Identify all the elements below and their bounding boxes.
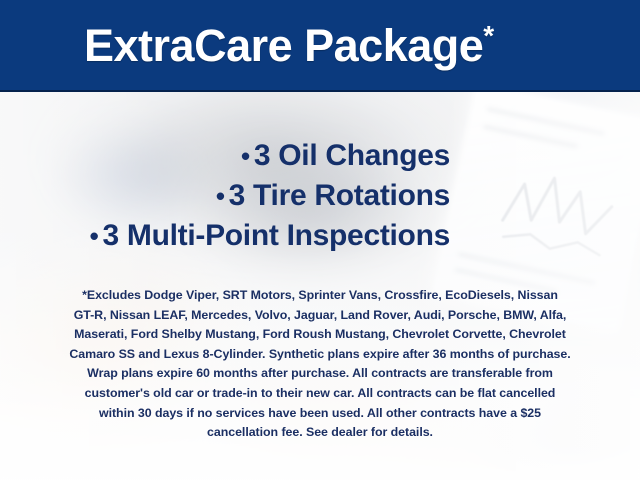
list-item-label: 3 Multi-Point Inspections <box>102 219 450 252</box>
disclaimer-line: Wrap plans expire 60 months after purcha… <box>26 364 614 384</box>
disclaimer-line: cancellation fee. See dealer for details… <box>26 423 614 443</box>
disclaimer-line: within 30 days if no services have been … <box>26 404 614 424</box>
page-title-text: ExtraCare Package <box>84 20 483 71</box>
page-title: ExtraCare Package* <box>84 23 494 68</box>
disclaimer-line: Camaro SS and Lexus 8-Cylinder. Syntheti… <box>26 345 614 365</box>
disclaimer-line: Maserati, Ford Shelby Mustang, Ford Rous… <box>26 325 614 345</box>
disclaimer-line: *Excludes Dodge Viper, SRT Motors, Sprin… <box>26 286 614 306</box>
extracare-package-ad: ExtraCare Package* •3 Oil Changes •3 Tir… <box>0 0 640 480</box>
bullet-icon: • <box>216 181 229 211</box>
title-asterisk: * <box>483 20 493 51</box>
list-item: •3 Oil Changes <box>0 136 450 176</box>
list-item-label: 3 Tire Rotations <box>229 179 450 212</box>
list-item-label: 3 Oil Changes <box>254 139 450 172</box>
list-item: •3 Multi-Point Inspections <box>0 216 450 256</box>
header-banner: ExtraCare Package* <box>0 0 640 92</box>
disclaimer-line: GT-R, Nissan LEAF, Mercedes, Volvo, Jagu… <box>26 306 614 326</box>
disclaimer-text: *Excludes Dodge Viper, SRT Motors, Sprin… <box>26 286 614 443</box>
content-area: •3 Oil Changes •3 Tire Rotations •3 Mult… <box>0 92 640 480</box>
bullet-icon: • <box>90 221 103 251</box>
benefits-list: •3 Oil Changes •3 Tire Rotations •3 Mult… <box>0 136 640 256</box>
bullet-icon: • <box>241 141 254 171</box>
list-item: •3 Tire Rotations <box>0 176 450 216</box>
disclaimer-line: customer's old car or trade-in to their … <box>26 384 614 404</box>
